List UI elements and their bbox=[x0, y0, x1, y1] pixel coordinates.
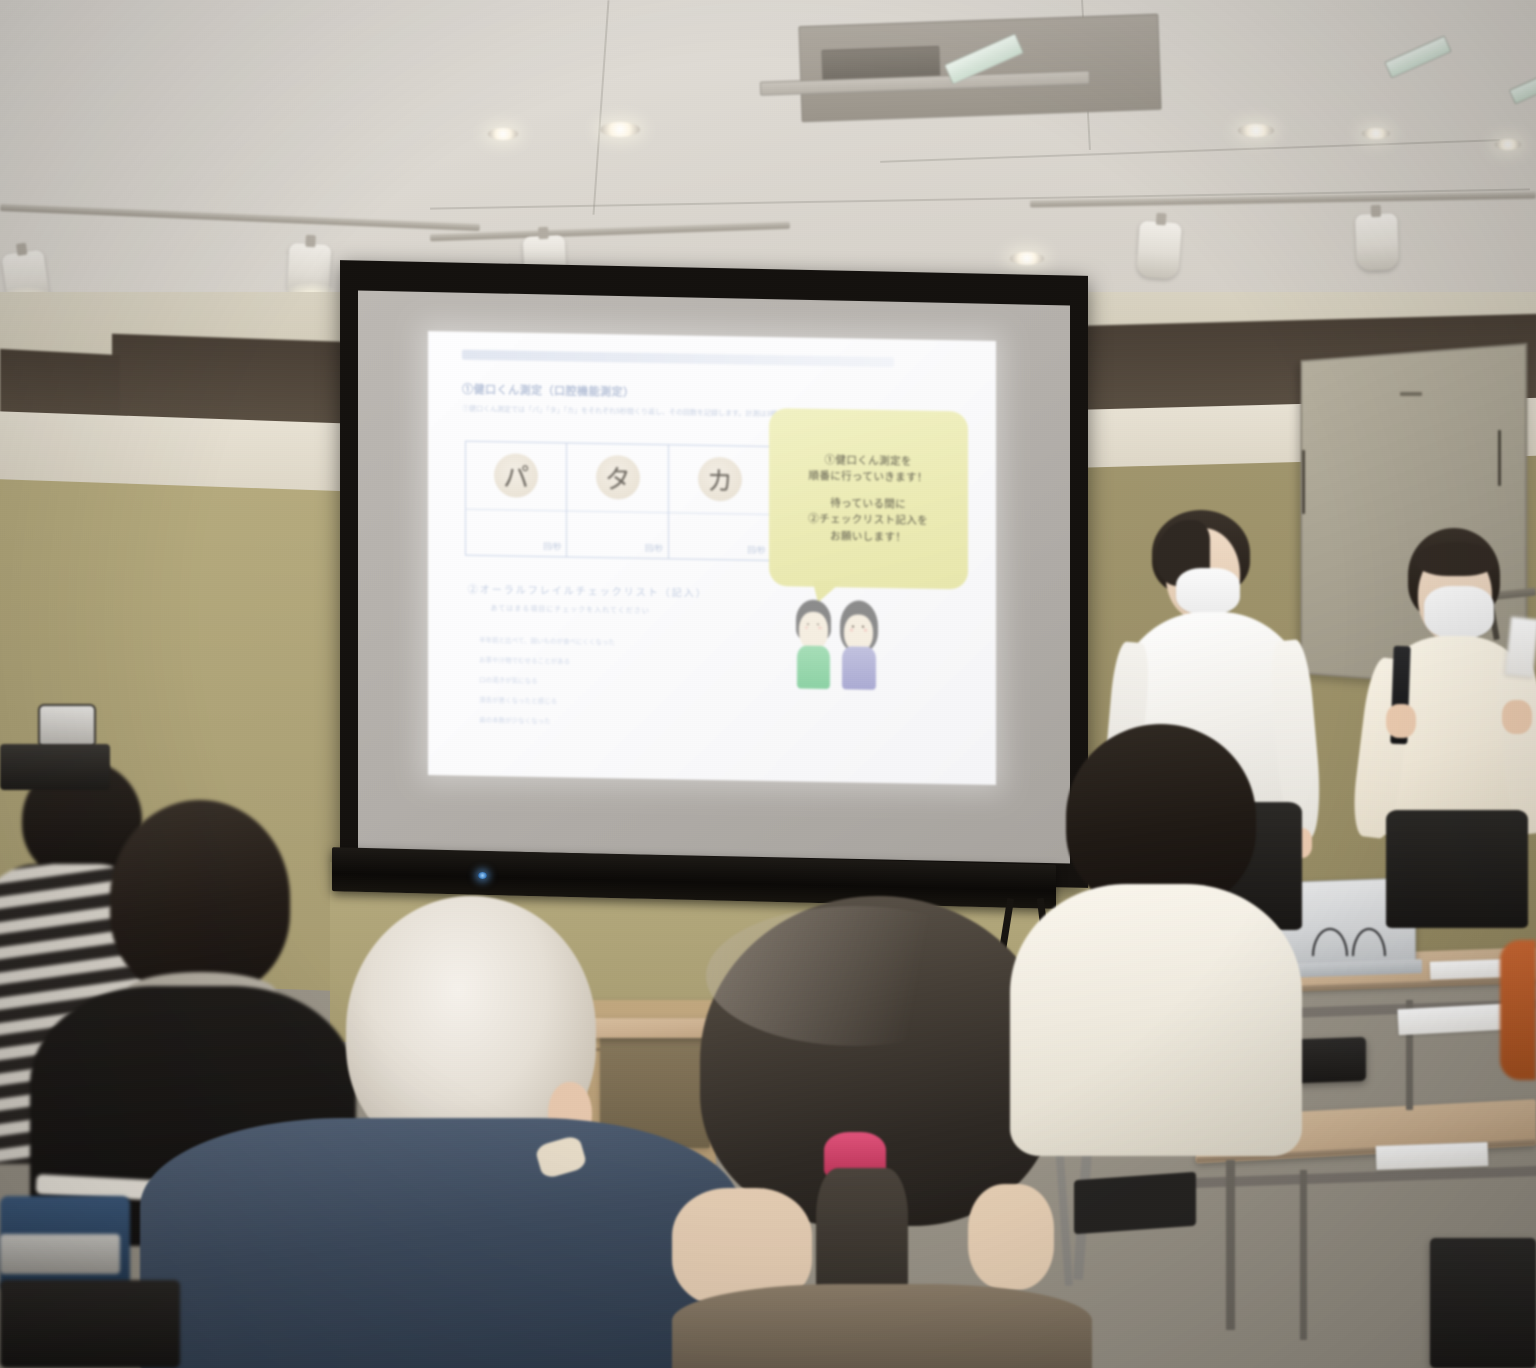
whiteboard-mark bbox=[1400, 392, 1422, 396]
chair-seat bbox=[1074, 1172, 1196, 1235]
ceiling-downlight bbox=[1362, 128, 1390, 139]
elderly-couple-illustration bbox=[792, 599, 883, 689]
ceiling-spotlight bbox=[1355, 213, 1399, 270]
toon-face bbox=[799, 612, 828, 650]
hair-highlight bbox=[706, 906, 1006, 1046]
whiteboard-hook bbox=[1498, 430, 1501, 486]
woman-ear-area bbox=[968, 1184, 1054, 1290]
checklist-row: 歯の本数が少なくなった bbox=[479, 714, 551, 725]
wall-dark-band-left bbox=[112, 334, 358, 429]
ceiling-downlight bbox=[488, 128, 518, 140]
speech-bubble: ①健口くん測定を 順番に行っていきます！ 待っている間に ②チェックリスト記入を… bbox=[769, 408, 968, 589]
toon-eye bbox=[862, 626, 864, 628]
toon-body bbox=[797, 646, 831, 689]
presenter-face-mask bbox=[1424, 586, 1494, 638]
man-navy-shirt bbox=[140, 1118, 740, 1368]
syllable-bubble-ta: タ bbox=[596, 455, 640, 500]
laptop-edge-left bbox=[0, 1234, 120, 1274]
seminar-room-photo: ①健口くん測定（口腔機能測定） ①健口くん測定では「パ」「タ」「カ」をそれぞれ5… bbox=[0, 0, 1536, 1368]
toon-cheek bbox=[818, 626, 821, 628]
presenter-bangs bbox=[1416, 542, 1496, 576]
checklist-row: 口の渇きが気になる bbox=[479, 674, 538, 685]
attendee-orange-shoulder bbox=[1500, 940, 1536, 1080]
screen-power-led bbox=[478, 872, 487, 879]
checklist-row: お茶や汁物でむせることがある bbox=[479, 654, 570, 666]
device-display bbox=[38, 704, 96, 748]
syllable-measurement-table: パ 回/秒 タ 回/秒 カ 回/秒 bbox=[465, 440, 772, 561]
ceiling-downlight bbox=[1238, 124, 1274, 137]
bubble-line: 待っている間に bbox=[830, 495, 906, 513]
ceiling-downlight bbox=[600, 122, 640, 137]
checklist-row: 滑舌が悪くなったと感じる bbox=[479, 694, 557, 705]
table-cell-unit-ta: 回/秒 bbox=[567, 511, 668, 558]
attendee-cream-top-woman bbox=[1010, 724, 1310, 1154]
toon-cheek bbox=[864, 629, 867, 631]
checklist-title: ②オーラルフレイルチェックリスト（記入） bbox=[468, 580, 708, 599]
presenter-face-mask bbox=[1176, 568, 1240, 614]
presenter-hand-right bbox=[1502, 700, 1532, 734]
held-paper bbox=[1505, 617, 1536, 678]
table-leg bbox=[1226, 1160, 1235, 1330]
syllable-bubble-pa: パ bbox=[494, 453, 538, 498]
syllable-bubble-ka: カ bbox=[698, 457, 742, 502]
table-cell-unit-ka: 回/秒 bbox=[669, 513, 771, 560]
table-cell-ka: カ 回/秒 bbox=[669, 445, 771, 560]
projected-slide: ①健口くん測定（口腔機能測定） ①健口くん測定では「パ」「タ」「カ」をそれぞれ5… bbox=[428, 331, 996, 785]
bubble-line: ②チェックリスト記入を bbox=[808, 511, 928, 529]
table-cell-top: カ bbox=[669, 445, 771, 515]
bubble-line: お願いします！ bbox=[830, 528, 906, 546]
bubble-line: 順番に行っていきます！ bbox=[809, 468, 928, 486]
ceiling-spotlight bbox=[1136, 221, 1182, 280]
table-rail bbox=[1192, 1166, 1536, 1188]
table-cell-top: タ bbox=[567, 443, 668, 512]
presenter-hand-left bbox=[1386, 704, 1416, 738]
elderly-man-figure bbox=[793, 599, 833, 688]
checklist-row: 半年前と比べて、固いものが食べにくくなった bbox=[479, 634, 615, 646]
checklist-subtitle: あてはまる項目にチェックを入れてください bbox=[490, 603, 649, 616]
slide-header-strip bbox=[462, 349, 894, 367]
presenter-skirt bbox=[1386, 810, 1528, 928]
attendee-white-hair-man bbox=[140, 896, 740, 1368]
presenter-right bbox=[1360, 528, 1536, 928]
attendee-cream-top bbox=[1010, 884, 1302, 1156]
toon-cheek bbox=[805, 626, 808, 628]
whiteboard-hook bbox=[1302, 450, 1305, 514]
table-cell-top: パ bbox=[466, 441, 567, 510]
bubble-line: ①健口くん測定を bbox=[825, 452, 912, 470]
table-cell-ta: タ 回/秒 bbox=[567, 443, 669, 558]
ceiling-downlight bbox=[1010, 252, 1044, 265]
bag bbox=[0, 1280, 180, 1368]
toon-eye bbox=[852, 626, 854, 628]
table-cell-unit-pa: 回/秒 bbox=[466, 509, 567, 556]
slide-title: ①健口くん測定（口腔機能測定） bbox=[462, 380, 635, 399]
elderly-woman-figure bbox=[839, 600, 879, 689]
ceiling bbox=[0, 0, 1536, 300]
toon-cheek bbox=[850, 629, 853, 631]
table-cell-pa: パ 回/秒 bbox=[466, 441, 568, 556]
table-leg bbox=[1300, 1170, 1307, 1340]
folding-chair-back bbox=[1430, 1238, 1536, 1368]
toon-eye bbox=[817, 623, 819, 625]
toon-body bbox=[842, 646, 876, 689]
handout-paper bbox=[1376, 1142, 1489, 1170]
ceiling-downlight bbox=[1495, 139, 1521, 150]
equipment-body bbox=[0, 744, 110, 790]
woman-shoulders bbox=[672, 1284, 1092, 1368]
attendee-head bbox=[1066, 724, 1256, 910]
toon-eye bbox=[807, 623, 809, 625]
